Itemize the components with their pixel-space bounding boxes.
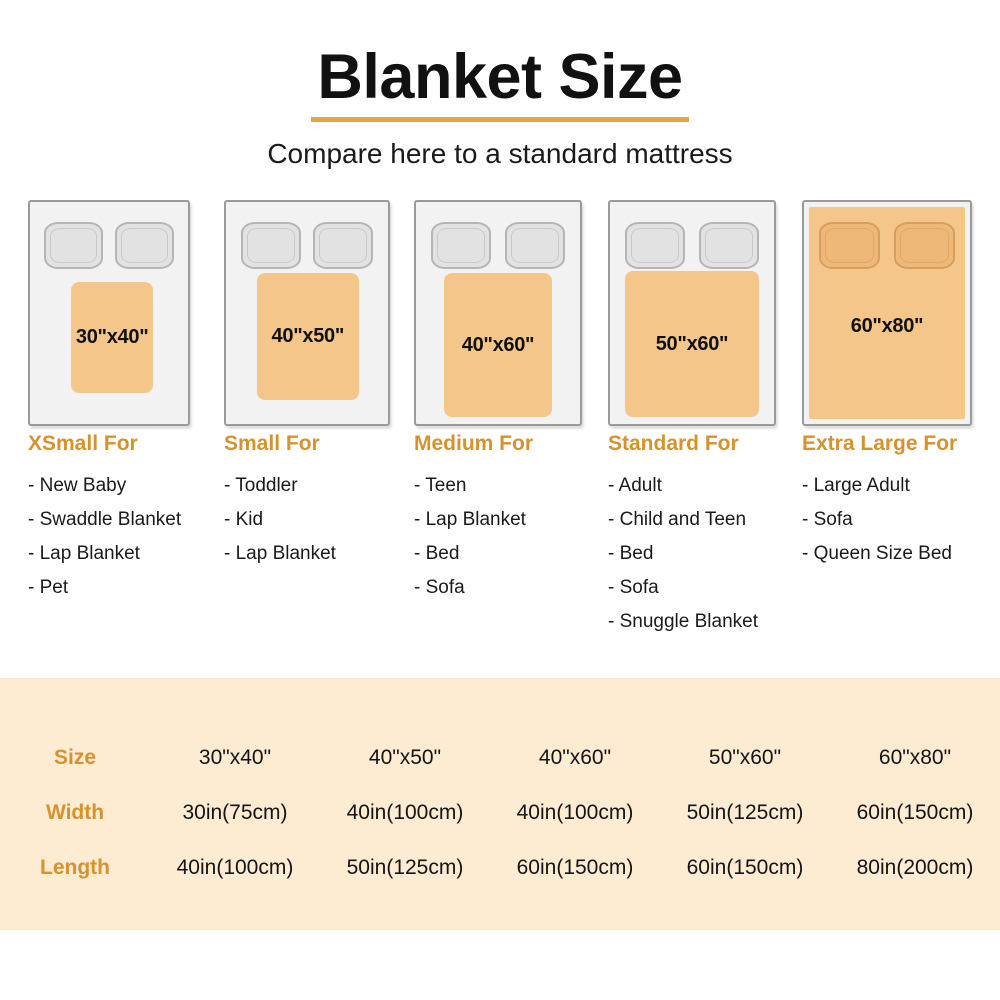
pillow-icon-left (819, 222, 880, 269)
desc-column-extra-large: Extra Large For - Large Adult - Sofa - Q… (802, 432, 957, 571)
blanket-shape: 50"x60" (625, 271, 759, 418)
table-row: Size 30"x40" 40"x50" 40"x60" 50"x60" 60"… (0, 730, 1000, 785)
table-cell: 80in(200cm) (830, 840, 1000, 895)
bed-diagram-extra-large: 60"x80" (802, 200, 972, 426)
blanket-size-label: 30"x40" (76, 326, 148, 349)
desc-heading: Medium For (414, 432, 533, 456)
mattress-outline: 40"x50" (224, 200, 390, 426)
desc-list-item: - Sofa (608, 571, 758, 605)
blanket-size-label: 40"x50" (272, 325, 344, 348)
bed-diagram-standard: 50"x60" (608, 200, 776, 426)
desc-list-item: - Lap Blanket (28, 537, 181, 571)
table-cell: 40in(100cm) (490, 785, 660, 840)
blanket-shape: 40"x50" (257, 273, 359, 400)
row-label-size: Size (0, 730, 150, 785)
table-cell: 40"x50" (320, 730, 490, 785)
desc-list-item: - Sofa (414, 571, 533, 605)
table-cell: 40"x60" (490, 730, 660, 785)
table-cell: 50in(125cm) (660, 785, 830, 840)
spec-table-section: Size 30"x40" 40"x50" 40"x60" 50"x60" 60"… (0, 678, 1000, 930)
desc-heading: Small For (224, 432, 336, 456)
page-title: Blanket Size (311, 46, 688, 122)
blanket-size-label: 50"x60" (656, 333, 728, 356)
bed-diagram-xsmall: 30"x40" (28, 200, 190, 426)
row-label-length: Length (0, 840, 150, 895)
table-cell: 60in(150cm) (830, 785, 1000, 840)
desc-column-xsmall: XSmall For - New Baby - Swaddle Blanket … (28, 432, 181, 605)
blanket-size-label: 60"x80" (851, 315, 923, 338)
desc-list-item: - Lap Blanket (414, 503, 533, 537)
pillow-icon-left (44, 222, 102, 269)
mattress-outline: 40"x60" (414, 200, 582, 426)
desc-column-small: Small For - Toddler - Kid - Lap Blanket (224, 432, 336, 571)
desc-list-item: - Toddler (224, 469, 336, 503)
desc-list-item: - Teen (414, 469, 533, 503)
table-cell: 50in(125cm) (320, 840, 490, 895)
table-row: Width 30in(75cm) 40in(100cm) 40in(100cm)… (0, 785, 1000, 840)
desc-heading: Extra Large For (802, 432, 957, 456)
desc-list-item: - Bed (414, 537, 533, 571)
blanket-size-label: 40"x60" (462, 334, 534, 357)
page-header: Blanket Size Compare here to a standard … (0, 0, 1000, 170)
pillow-icon-left (625, 222, 686, 269)
desc-column-standard: Standard For - Adult - Child and Teen - … (608, 432, 758, 639)
table-cell: 50"x60" (660, 730, 830, 785)
mattress-outline: 50"x60" (608, 200, 776, 426)
pillow-icon-right (115, 222, 173, 269)
desc-list-item: - Queen Size Bed (802, 537, 957, 571)
table-row: Length 40in(100cm) 50in(125cm) 60in(150c… (0, 840, 1000, 895)
blanket-shape: 40"x60" (444, 273, 552, 417)
table-cell: 60"x80" (830, 730, 1000, 785)
bed-diagram-row: 30"x40" 40"x50" 40"x60" (0, 200, 1000, 426)
pillow-icon-left (241, 222, 301, 269)
mattress-outline: 30"x40" (28, 200, 190, 426)
desc-list-item: - New Baby (28, 469, 181, 503)
mattress-outline: 60"x80" (802, 200, 972, 426)
bottom-white-strip (0, 930, 1000, 1000)
table-cell: 40in(100cm) (150, 840, 320, 895)
desc-heading: XSmall For (28, 432, 181, 456)
table-cell: 60in(150cm) (660, 840, 830, 895)
page-subtitle: Compare here to a standard mattress (0, 138, 1000, 170)
desc-heading: Standard For (608, 432, 758, 456)
desc-list-item: - Swaddle Blanket (28, 503, 181, 537)
desc-list-item: - Pet (28, 571, 181, 605)
pillow-icon-right (313, 222, 373, 269)
desc-list-item: - Large Adult (802, 469, 957, 503)
desc-list-item: - Bed (608, 537, 758, 571)
spec-table: Size 30"x40" 40"x50" 40"x60" 50"x60" 60"… (0, 730, 1000, 895)
pillow-icon-right (505, 222, 566, 269)
pillow-icon-left (431, 222, 492, 269)
pillow-icon-right (894, 222, 955, 269)
table-cell: 60in(150cm) (490, 840, 660, 895)
table-cell: 30in(75cm) (150, 785, 320, 840)
desc-list-item: - Kid (224, 503, 336, 537)
desc-list-item: - Sofa (802, 503, 957, 537)
desc-list-item: - Lap Blanket (224, 537, 336, 571)
bed-diagram-small: 40"x50" (224, 200, 390, 426)
table-cell: 30"x40" (150, 730, 320, 785)
desc-list-item: - Child and Teen (608, 503, 758, 537)
table-cell: 40in(100cm) (320, 785, 490, 840)
desc-list-item: - Snuggle Blanket (608, 605, 758, 639)
blanket-shape: 30"x40" (71, 282, 153, 393)
pillow-icon-right (699, 222, 760, 269)
bed-diagram-medium: 40"x60" (414, 200, 582, 426)
row-label-width: Width (0, 785, 150, 840)
desc-list-item: - Adult (608, 469, 758, 503)
desc-column-medium: Medium For - Teen - Lap Blanket - Bed - … (414, 432, 533, 605)
